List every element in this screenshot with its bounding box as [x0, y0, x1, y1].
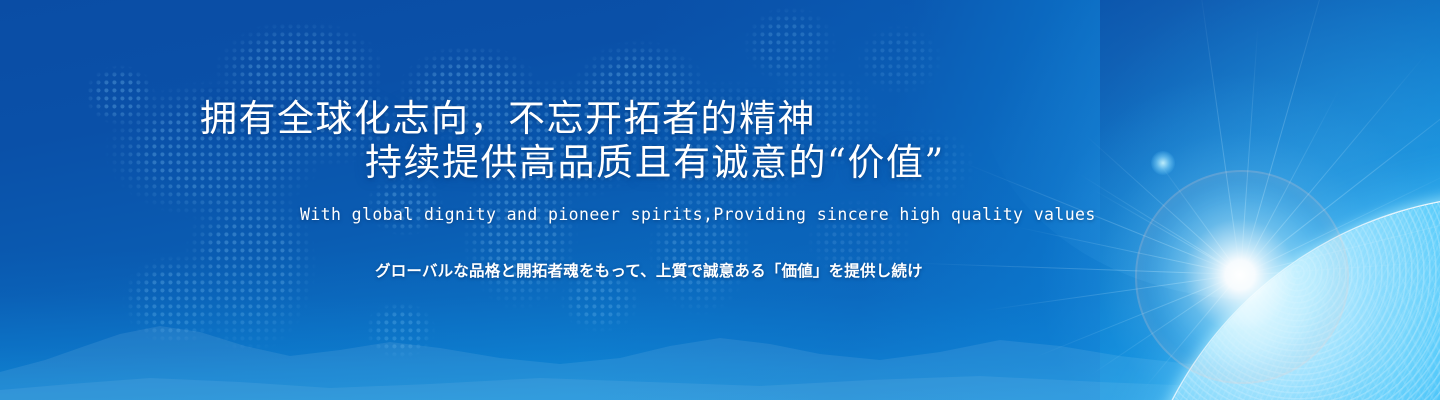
sun-ray: [1152, 153, 1241, 275]
lens-flare-dot: [1151, 151, 1175, 175]
mountain-ridge-icon: [0, 280, 1250, 400]
headline-line-2: 持续提供高品质且有诚意的“价值”: [365, 132, 945, 186]
world-map-dot-pattern: [0, 0, 1100, 400]
sun-ray: [1240, 0, 1335, 275]
sun-ray: [1084, 133, 1241, 275]
sun-ray: [910, 262, 1240, 275]
world-map-fade-overlay: [0, 0, 1100, 400]
sun-ray: [1093, 189, 1241, 275]
subline-english: With global dignity and pioneer spirits,…: [300, 205, 1096, 224]
sun-ray: [982, 274, 1240, 312]
sun-ray: [1015, 226, 1240, 275]
subline-japanese: グローバルな品格と開拓者魂をもって、上質で誠意ある「価値」を提供し続け: [375, 259, 923, 281]
globe-rim-light: [1130, 196, 1440, 400]
hero-banner: 拥有全球化志向，不忘开拓者的精神 持续提供高品质且有诚意的“价值” With g…: [0, 0, 1440, 400]
sun-ray: [1198, 0, 1241, 275]
earth-globe: [1130, 196, 1440, 400]
sun-ray: [1240, 26, 1259, 275]
sun-ray: [1079, 173, 1241, 275]
